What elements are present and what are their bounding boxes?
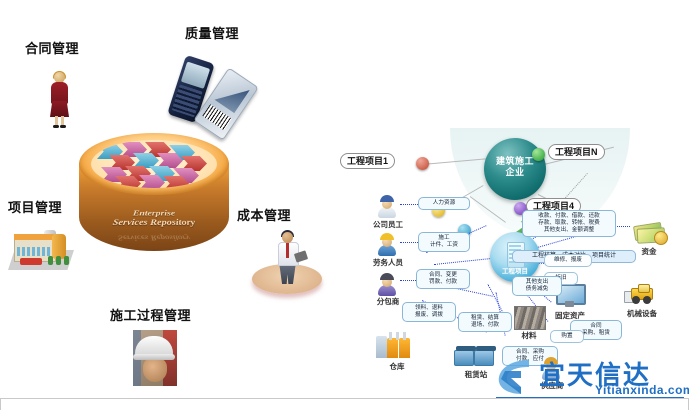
businesswoman-figure-icon [48,72,72,128]
tag-rental-settlement: 租赁、结算 退场、付款 [458,312,512,332]
screenshot-canvas: 合同管理 质量管理 项目管理 成本管理 施工过程管理 [0,0,689,410]
tag-construction-piecework: 施工 计件、工资 [418,232,470,252]
funds-money-shape [634,222,666,244]
tag-funds-line3: 其他支出、金额调整 [544,227,594,233]
construction-worker-photo [133,330,177,386]
tag-warehouse-line2: 报废、调拨 [415,312,443,318]
dots-subcontractor-tag [400,280,416,281]
tag-machinery-line2: 采购、租赁 [582,330,610,336]
page-left-border [0,398,1,410]
businessman-with-tablet-icon [252,232,322,298]
hexagon-chevron-pattern [91,140,217,188]
caption-funds: 资金 [632,246,666,257]
tag-construction-line1: 施工 [438,235,449,241]
node-label-project-1[interactable]: 工程项目1 [340,153,395,169]
label-cost-management: 成本管理 [237,205,291,224]
tag-supplier-line1: 其他支出 [526,279,548,285]
tag-material-requisition: 领料、退料 报废、调拨 [402,302,456,322]
caption-rental-station: 租赁站 [454,369,498,380]
tag-construction-line2: 计件、工资 [430,242,458,248]
avatar-company-employee [376,194,398,218]
tag-contract-line2: 罚款、付款 [429,279,457,285]
repository-reflection-text: Services Repository [117,234,191,242]
avatar-labor-personnel [376,232,398,256]
tag-contract-change: 合同、变更 罚款、付款 [416,269,470,289]
hub-label-line2: 企业 [505,167,524,177]
tag-supplier-line2: 债务减免 [526,286,548,292]
dots-employee-tag [400,204,418,205]
caption-material: 材料 [512,330,546,341]
tag-rental-line2: 退场、付款 [471,322,499,328]
factory-building-icon [8,228,74,272]
node-dot-project-1[interactable] [416,157,429,170]
tag-machinery-line1: 合同 [590,323,601,329]
label-project-management: 项目管理 [8,197,62,216]
tag-rental-line1: 租赁、结算 [471,315,499,321]
tag-purchase: 购置 [550,330,584,343]
tag-other-expense: 其他支出 债务减免 [512,276,562,296]
caption-labor-personnel: 劳务人员 [366,257,410,268]
tag-funds-line1: 收款、付款、借款、还款 [538,213,600,219]
bulldozer-machinery-icon [624,284,658,306]
tag-human-resources: 人力资源 [418,197,470,210]
tag-warehouse-line1: 领料、退料 [415,305,443,311]
caption-subcontractor: 分包商 [370,296,406,307]
warehouse-icon [376,332,418,362]
label-contract-management: 合同管理 [25,38,79,57]
enterprise-services-repository-cylinder: Enterprise Services Repository Services … [79,133,229,267]
watermark-en-text: Yitianxinda.com [595,383,689,397]
dots-labor-tag [400,242,418,243]
swoosh-logo-icon [495,357,541,397]
caption-warehouse: 仓库 [376,361,418,372]
tag-funds-line2: 存款、取款、转帐、税费 [538,220,600,226]
repository-caption: Enterprise Services Repository [75,209,233,227]
repository-caption-line2: Services Repository [112,218,197,228]
node-label-project-n[interactable]: 工程项目N [548,144,605,160]
mobile-phone-and-barcode-scanner-icon [172,56,272,134]
rental-station-icon [454,342,498,368]
watermark-logo: 宜天信达 Yitianxinda.com [495,355,689,403]
tag-repair-scrap: 维修、报废 [544,254,592,267]
tag-contract-line1: 合同、变更 [429,272,457,278]
node-project-center-label: 工程项目 [490,265,540,275]
label-construction-process-management: 施工过程管理 [110,305,191,324]
avatar-subcontractor [376,272,398,296]
tag-funds-operations: 收款、付款、借款、还款 存款、取款、转帐、税费 其他支出、金额调整 [522,210,616,237]
caption-machinery-equipment: 机械设备 [618,308,666,319]
caption-fixed-assets: 固定资产 [546,310,594,321]
caption-company-employee: 公司员工 [368,219,408,230]
spoke-labor [434,258,492,265]
material-photo-icon [514,306,546,330]
node-dot-project-n[interactable] [532,148,545,161]
label-quality-management: 质量管理 [185,23,239,42]
page-bottom-border [0,398,689,410]
repository-caption-reflection: Services Repository [77,234,231,242]
repository-caption-line1: Enterprise [132,209,175,218]
hub-label-line1: 建筑施工 [496,156,534,166]
